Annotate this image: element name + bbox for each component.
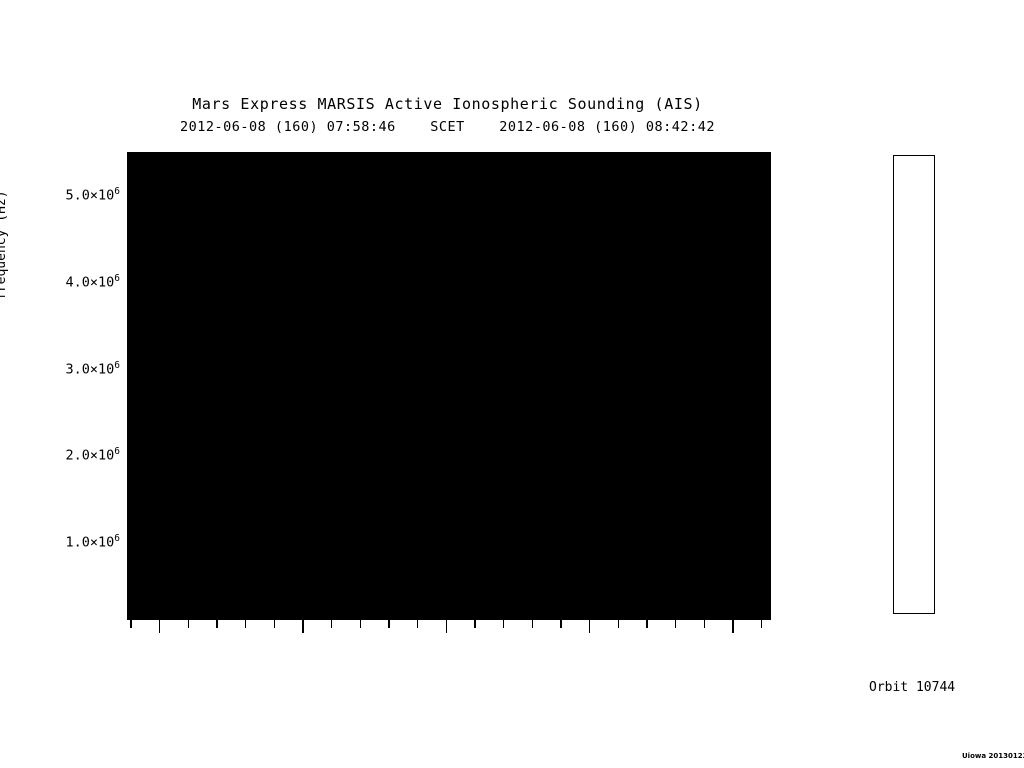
y-tick [127,525,135,527]
x-tick [503,620,505,628]
x-tick-top [159,152,161,165]
y-tick [127,351,135,353]
y-tick-right [763,559,771,561]
x-tick-top [245,152,247,160]
x-tick [159,620,161,633]
y-tick-right [763,421,771,423]
y-tick [127,559,135,561]
x-tick-top [331,152,333,160]
y-tick [127,611,135,613]
watermark-label: Uiowa 20130123 [962,752,1024,760]
y-tick [127,438,135,440]
x-tick [589,620,591,633]
x-tick [618,620,620,628]
y-tick [127,490,135,492]
x-tick-top [216,152,218,160]
y-tick-right [763,577,771,579]
y-tick [127,421,135,423]
y-tick-right [763,213,771,215]
x-tick-top [274,152,276,160]
x-tick-top [188,152,190,160]
y-tick-right [763,438,771,440]
x-tick-top [302,152,304,165]
y-tick-right [763,525,771,527]
y-tick-right [763,317,771,319]
page-subtitle: 2012-06-08 (160) 07:58:46 SCET 2012-06-0… [0,119,895,135]
y-tick [127,369,140,371]
y-tick-right [763,299,771,301]
x-tick [417,620,419,628]
x-tick [560,620,562,628]
x-tick [704,620,706,628]
x-tick [761,620,763,628]
x-tick [331,620,333,628]
x-tick-top [446,152,448,165]
y-axis-tick-label-2: 3.0×106 [30,360,120,378]
colorbar-tick-labels [786,0,879,768]
y-tick-right [763,490,771,492]
y-tick [127,455,140,457]
x-tick-top [474,152,476,160]
y-tick-right [758,542,771,544]
y-axis-tick-labels: 1.0×1062.0×1063.0×1064.0×1065.0×106 [20,0,120,768]
y-tick [127,507,135,509]
x-tick-top [618,152,620,160]
y-tick [127,178,135,180]
y-tick-right [763,247,771,249]
y-tick-right [758,369,771,371]
y-tick [127,265,135,267]
x-tick [245,620,247,628]
y-axis-title: frequency (Hz) [0,190,9,300]
x-tick-top [560,152,562,160]
y-tick-right [758,455,771,457]
y-tick-right [763,230,771,232]
y-tick [127,282,140,284]
x-tick-top [417,152,419,160]
y-tick-right [763,507,771,509]
x-tick [675,620,677,628]
x-tick [446,620,448,633]
x-tick-top [503,152,505,160]
y-tick-right [763,594,771,596]
x-tick [360,620,362,628]
x-tick [646,620,648,628]
y-tick-right [763,178,771,180]
x-tick-top [532,152,534,160]
y-tick-right [763,386,771,388]
spectrogram-segment-outbound [609,153,771,619]
x-tick-top [704,152,706,160]
y-tick-right [763,403,771,405]
y-axis-tick-label-0: 1.0×106 [30,533,120,551]
x-tick [302,620,304,633]
y-tick-right [763,334,771,336]
x-tick-top [360,152,362,160]
y-tick [127,334,135,336]
x-tick [130,620,132,628]
orbit-label: Orbit 10744 [869,680,955,695]
x-tick [474,620,476,628]
y-axis-tick-label-1: 2.0×106 [30,446,120,464]
y-tick [127,542,140,544]
page-title: Mars Express MARSIS Active Ionospheric S… [0,95,895,113]
x-tick [188,620,190,628]
x-tick-top [732,152,734,165]
x-tick-top [589,152,591,165]
colorbar [893,155,935,614]
x-tick [388,620,390,628]
y-tick [127,403,135,405]
x-tick-top [675,152,677,160]
y-tick-right [763,351,771,353]
y-tick-right [763,611,771,613]
y-tick [127,577,135,579]
y-tick [127,594,135,596]
y-tick-right [763,265,771,267]
y-tick-right [758,195,771,197]
y-tick [127,317,135,319]
spectrogram-panel [127,152,771,620]
x-tick [532,620,534,628]
x-tick [732,620,734,633]
x-tick-top [388,152,390,160]
y-tick-right [758,282,771,284]
x-tick [216,620,218,628]
y-tick [127,247,135,249]
y-tick [127,473,135,475]
y-tick [127,213,135,215]
colorbar-gradient [894,156,934,613]
x-tick-top [761,152,763,160]
y-tick [127,230,135,232]
spectrogram-segment-inbound [128,153,229,619]
y-tick [127,161,135,163]
x-tick-top [646,152,648,160]
y-tick [127,195,140,197]
y-axis-tick-label-4: 5.0×106 [30,186,120,204]
x-tick [274,620,276,628]
y-tick-right [763,473,771,475]
y-axis-tick-label-3: 4.0×106 [30,273,120,291]
x-tick-top [130,152,132,160]
y-tick [127,386,135,388]
y-tick [127,299,135,301]
y-tick-right [763,161,771,163]
